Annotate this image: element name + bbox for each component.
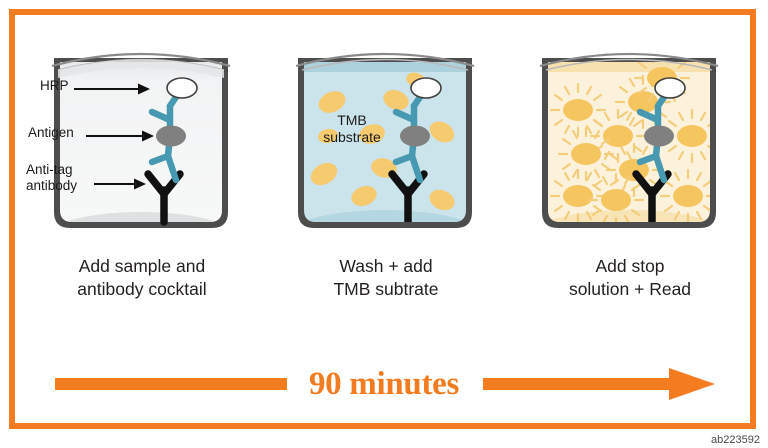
step-3-caption-line2: solution + Read: [500, 278, 760, 301]
arrow-to-anti-tag-antibody: [94, 177, 152, 191]
label-anti-tag-line1: Anti-tag: [26, 162, 77, 178]
arrow-to-antigen: [86, 129, 156, 143]
duration-label: 90 minutes: [0, 360, 768, 408]
antigen-marker-1: [156, 126, 186, 147]
step-1-caption-line2: antibody cocktail: [12, 278, 272, 301]
antigen-marker-2: [400, 126, 430, 147]
label-antigen: Antigen: [28, 125, 74, 141]
step-3-caption-line1: Add stop: [500, 255, 760, 278]
step-1-caption: Add sample and antibody cocktail: [12, 255, 272, 302]
hrp-marker-1: [167, 78, 197, 98]
label-tmb-line2: substrate: [308, 129, 396, 146]
label-tmb-line1: TMB: [308, 112, 396, 129]
step-1-well-column: HRP Antigen Anti-tag antibody: [42, 30, 242, 235]
microplate-well-3: [536, 44, 722, 234]
label-anti-tag-line2: antibody: [26, 178, 77, 194]
antigen-marker-3: [644, 126, 674, 147]
step-1-caption-line1: Add sample and: [12, 255, 272, 278]
step-2-caption-line1: Wash + add: [256, 255, 516, 278]
label-anti-tag-antibody: Anti-tag antibody: [26, 162, 77, 194]
step-2-caption-line2: TMB subtrate: [256, 278, 516, 301]
step-3-caption: Add stop solution + Read: [500, 255, 760, 302]
step-2-well-column: TMB substrate: [286, 30, 486, 235]
step-3-well-column: [530, 30, 730, 235]
duration-label-text: 90 minutes: [309, 366, 459, 402]
arrow-to-hrp: [74, 82, 152, 96]
hrp-marker-3: [655, 78, 685, 98]
liquid-surface-2: [304, 62, 466, 72]
product-code-text: ab223592: [711, 434, 760, 446]
label-antigen-text: Antigen: [28, 125, 74, 140]
diagram-canvas: HRP Antigen Anti-tag antibody: [0, 0, 768, 448]
label-hrp-text: HRP: [40, 78, 69, 93]
product-code-watermark: ab223592: [711, 434, 760, 446]
label-tmb-substrate: TMB substrate: [308, 112, 396, 146]
label-hrp: HRP: [40, 78, 69, 94]
hrp-marker-2: [411, 78, 441, 98]
step-2-caption: Wash + add TMB subtrate: [256, 255, 516, 302]
